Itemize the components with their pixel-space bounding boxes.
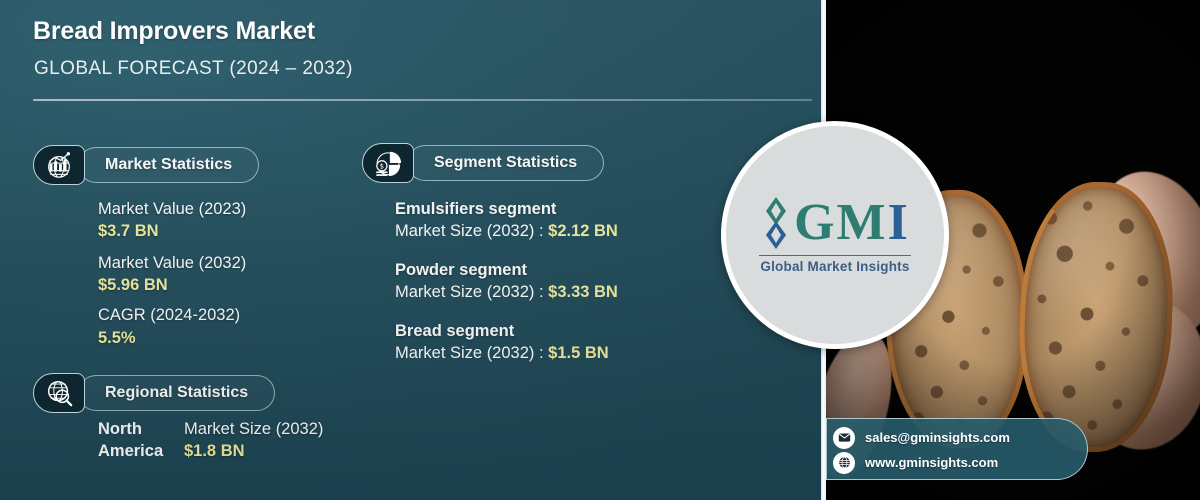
region-metric: Market Size (2032) $1.8 BN	[184, 418, 323, 462]
segment-metric-line: Market Size (2032) : $1.5 BN	[395, 342, 618, 365]
regional-statistics-label: Regional Statistics	[78, 375, 275, 411]
region-metric-value: $1.8 BN	[184, 440, 323, 462]
contact-email-row[interactable]: sales@gminsights.com	[833, 425, 1087, 450]
region-name: North America	[98, 418, 184, 463]
segment-item: Emulsifiers segment Market Size (2032) :…	[395, 198, 618, 243]
pie-chart-money-icon: $	[362, 143, 414, 183]
segment-statistics-items: Emulsifiers segment Market Size (2032) :…	[395, 198, 618, 365]
stat-label: Market Value (2032)	[98, 252, 246, 274]
regional-row: North America Market Size (2032) $1.8 BN	[98, 418, 323, 463]
segment-metric-line: Market Size (2032) : $2.12 BN	[395, 220, 618, 243]
left-content-panel: Bread Improvers Market GLOBAL FORECAST (…	[0, 0, 824, 500]
contact-website: www.gminsights.com	[865, 455, 998, 470]
segment-statistics-label: Segment Statistics	[407, 145, 604, 181]
globe-icon	[833, 452, 855, 474]
page-title: Bread Improvers Market	[33, 17, 315, 46]
logo-letter-i: I	[888, 197, 907, 249]
segment-metric-value: $3.33 BN	[548, 283, 618, 301]
logo-rule	[759, 255, 911, 257]
regional-statistics-rows: North America Market Size (2032) $1.8 BN	[98, 418, 323, 463]
segment-name: Powder segment	[395, 259, 618, 281]
diamond-mark-icon	[763, 196, 789, 250]
segment-item: Powder segment Market Size (2032) : $3.3…	[395, 259, 618, 304]
globe-bar-chart-icon	[33, 145, 85, 185]
segment-metric-label: Market Size (2032) :	[395, 344, 548, 362]
page-subtitle: GLOBAL FORECAST (2024 – 2032)	[34, 58, 353, 80]
market-statistics-rows: Market Value (2023) $3.7 BN Market Value…	[98, 198, 246, 349]
header-divider	[33, 99, 812, 101]
segment-statistics-header: $ Segment Statistics	[362, 143, 604, 183]
segment-metric-value: $1.5 BN	[548, 344, 609, 362]
stat-label: Market Value (2023)	[98, 198, 246, 220]
logo-wordmark: G M I	[763, 196, 907, 250]
region-metric-label: Market Size (2032)	[184, 418, 323, 440]
contact-email: sales@gminsights.com	[865, 430, 1010, 445]
segment-metric-label: Market Size (2032) :	[395, 283, 548, 301]
market-statistics-label: Market Statistics	[78, 147, 259, 183]
logo-letter-g: G	[794, 197, 833, 249]
globe-magnifier-icon	[33, 373, 85, 413]
logo-disc: G M I Global Market Insights	[721, 121, 949, 349]
stat-value: $5.96 BN	[98, 274, 246, 296]
stat-value: 5.5%	[98, 327, 246, 349]
segment-metric-line: Market Size (2032) : $3.33 BN	[395, 281, 618, 304]
gmi-logo: G M I Global Market Insights	[721, 141, 949, 329]
segment-name: Emulsifiers segment	[395, 198, 618, 220]
regional-statistics-header: Regional Statistics	[33, 373, 275, 413]
stat-label: CAGR (2024-2032)	[98, 304, 246, 326]
envelope-icon	[833, 427, 855, 449]
contact-bar: sales@gminsights.com www.gminsights.com	[826, 418, 1088, 480]
segment-metric-value: $2.12 BN	[548, 222, 618, 240]
svg-text:$: $	[380, 161, 384, 170]
logo-tagline: Global Market Insights	[760, 259, 909, 274]
infographic-canvas: Bread Improvers Market GLOBAL FORECAST (…	[0, 0, 1200, 500]
segment-item: Bread segment Market Size (2032) : $1.5 …	[395, 320, 618, 365]
stat-value: $3.7 BN	[98, 220, 246, 242]
contact-website-row[interactable]: www.gminsights.com	[833, 450, 1087, 475]
market-statistics-header: Market Statistics	[33, 145, 259, 185]
segment-name: Bread segment	[395, 320, 618, 342]
segment-metric-label: Market Size (2032) :	[395, 222, 548, 240]
logo-letter-m: M	[837, 197, 885, 249]
